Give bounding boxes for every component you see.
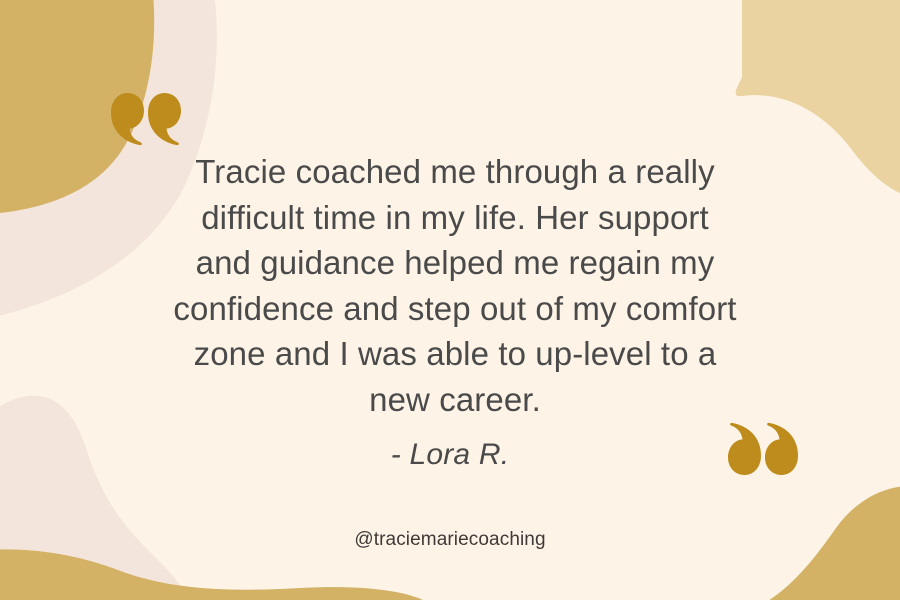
open-quote-icon <box>110 92 182 154</box>
attribution-name: - Lora R. <box>0 438 900 472</box>
testimonial-card: Tracie coached me through a really diffi… <box>0 0 900 600</box>
social-handle: @traciemariecoaching <box>0 529 900 551</box>
quote-text: Tracie coached me through a really diffi… <box>130 149 780 422</box>
quote-block: Tracie coached me through a really diffi… <box>0 0 900 600</box>
